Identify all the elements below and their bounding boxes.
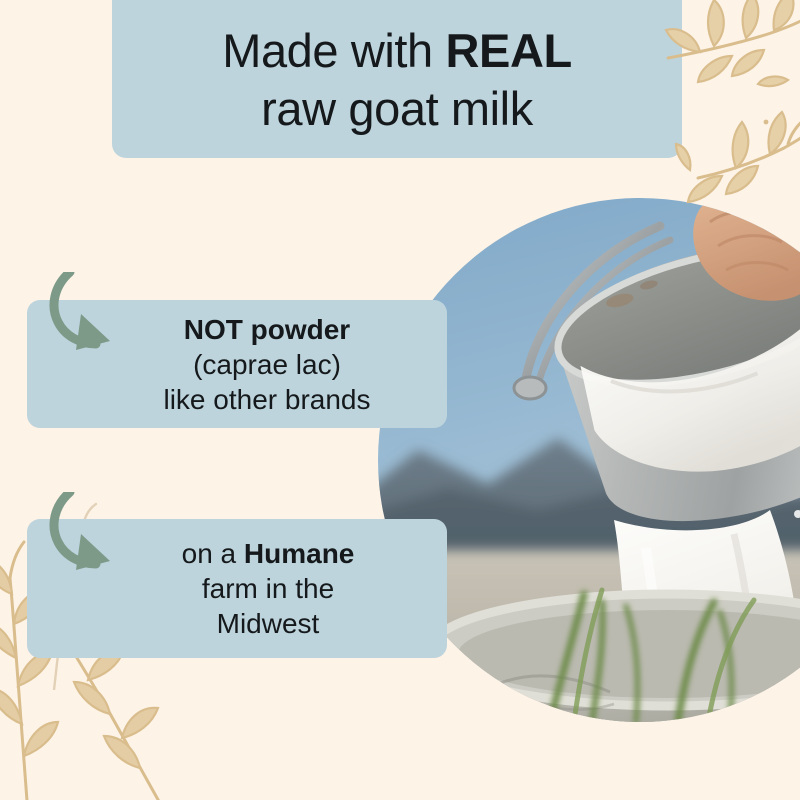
callout-2-line-3: Midwest	[217, 606, 320, 641]
callout-2-prefix: on a	[182, 538, 244, 569]
headline-line-1: Made with REAL	[222, 22, 572, 80]
callout-1-line-1: NOT powder	[184, 312, 350, 347]
callout-1-line-2: (caprae lac)	[193, 347, 341, 382]
callout-2-line-2: farm in the	[202, 571, 334, 606]
callout-1-line-3: like other brands	[163, 382, 370, 417]
promo-graphic-canvas: Made with REAL raw goat milk	[0, 0, 800, 800]
callout-not-powder: NOT powder (caprae lac) like other brand…	[27, 300, 447, 428]
headline-emphasis: REAL	[445, 24, 571, 77]
headline-line-2: raw goat milk	[261, 80, 533, 138]
callout-1-emphasis: NOT powder	[184, 314, 350, 345]
headline-prefix: Made with	[222, 24, 445, 77]
callout-2-line-1: on a Humane	[182, 536, 355, 571]
callout-humane-farm: on a Humane farm in the Midwest	[27, 519, 447, 658]
callout-2-emphasis: Humane	[244, 538, 354, 569]
headline-banner: Made with REAL raw goat milk	[112, 0, 682, 158]
